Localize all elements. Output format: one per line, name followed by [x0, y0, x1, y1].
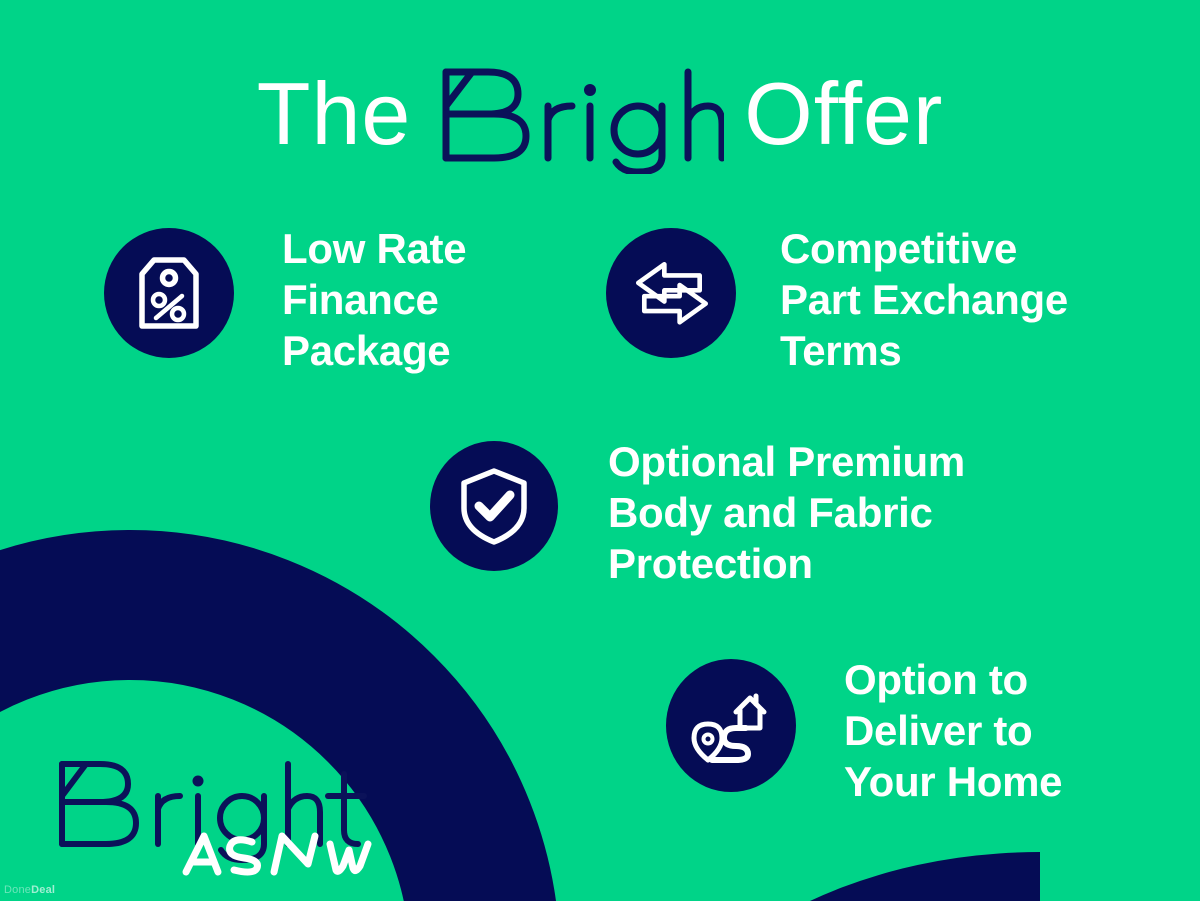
feature-part-exchange: Competitive Part Exchange Terms — [606, 228, 1068, 376]
page-title: The — [0, 58, 1200, 170]
feature-label-low-rate-finance: Low Rate Finance Package — [282, 224, 466, 376]
decorative-navy-blob — [620, 852, 1040, 901]
feature-body-fabric-protection: Optional Premium Body and Fabric Protect… — [430, 441, 965, 589]
feature-label-body-fabric-protection: Optional Premium Body and Fabric Protect… — [608, 437, 965, 589]
feature-label-part-exchange: Competitive Part Exchange Terms — [780, 224, 1068, 376]
price-tag-percent-icon — [104, 228, 234, 358]
bright-wordmark-title — [432, 62, 724, 174]
title-trail-word: Offer — [744, 64, 943, 163]
promo-slide: The — [0, 0, 1200, 901]
map-pin-route-house-icon — [666, 659, 796, 792]
bright-as-new-logo[interactable] — [52, 752, 382, 872]
watermark-suffix: Deal — [31, 884, 55, 896]
exchange-arrows-icon — [606, 228, 736, 358]
watermark-donedeal: DoneDeal — [4, 884, 55, 896]
title-lead-word: The — [257, 64, 412, 163]
feature-label-home-delivery: Option to Deliver to Your Home — [844, 655, 1062, 807]
watermark-prefix: Done — [4, 884, 31, 896]
feature-low-rate-finance: Low Rate Finance Package — [104, 228, 466, 376]
feature-home-delivery: Option to Deliver to Your Home — [666, 659, 1062, 807]
shield-check-icon — [430, 441, 558, 571]
